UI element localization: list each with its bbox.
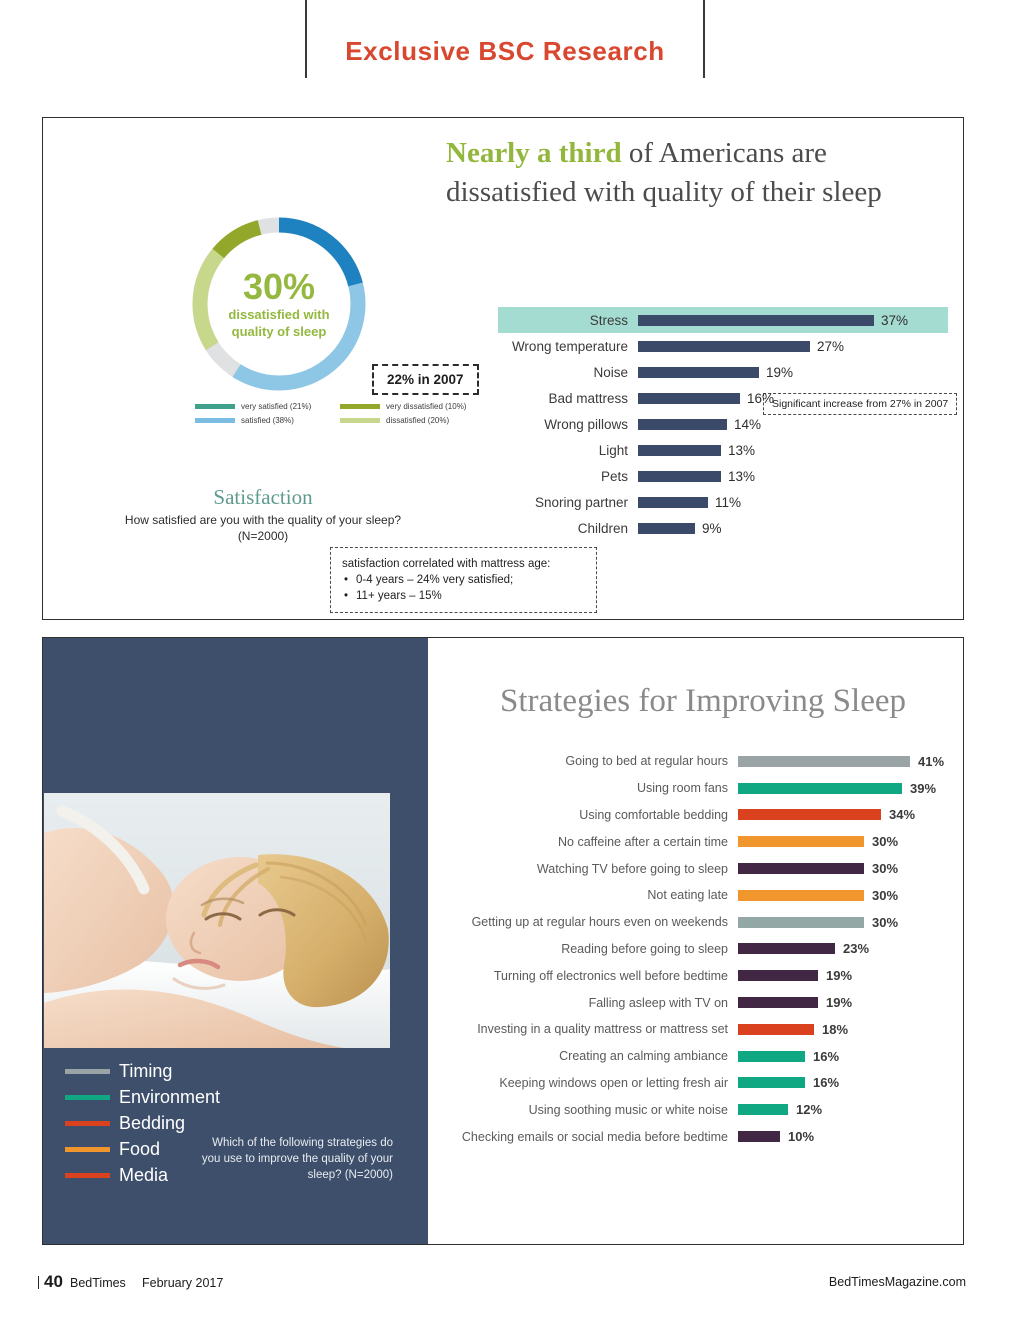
bar-row-soothing-music: Using soothing music or white noise 12% [428, 1096, 963, 1123]
bar-fill [638, 341, 810, 352]
bar-value: 12% [796, 1102, 822, 1117]
strategies-caption-line2: you use to improve the quality of your [193, 1151, 393, 1167]
bar-fill [638, 497, 708, 508]
bar-row-noise: Noise 19% [498, 359, 948, 385]
satisfaction-question: How satisfied are you with the quality o… [43, 512, 483, 544]
bar-fill [738, 1104, 788, 1115]
bar-fill [638, 315, 874, 326]
bar-row-stress: Stress 37% [498, 307, 948, 333]
legend-swatch-icon [65, 1069, 110, 1074]
bar-fill [638, 419, 727, 430]
bar-row-bad-mattress: Bad mattress 16% [498, 385, 948, 411]
bar-label: Wrong temperature [498, 339, 638, 354]
bar-value: 37% [881, 313, 908, 328]
legend-swatch-icon [65, 1095, 110, 1100]
sleeping-woman-photo [44, 793, 390, 1048]
bar-value: 19% [826, 995, 852, 1010]
panel1-headline: Nearly a third of Americans are dissatis… [446, 134, 916, 212]
legend-swatch-icon [340, 404, 380, 409]
bar-row-falling-asleep-tv: Falling asleep with TV on 19% [428, 989, 963, 1016]
callout-mattress-age: satisfaction correlated with mattress ag… [330, 547, 597, 613]
legend-item-environment: Environment [65, 1084, 220, 1110]
bar-row-snoring-partner: Snoring partner 11% [498, 489, 948, 515]
legend-item-satisfied: satisfied (38%) [195, 416, 340, 425]
bar-label: No caffeine after a certain time [428, 835, 738, 849]
bar-row-turning-off-electronics: Turning off electronics well before bedt… [428, 962, 963, 989]
legend-item-very-dissatisfied: very dissatisfied (10%) [340, 402, 485, 411]
mattress-callout-item: 11+ years – 15% [356, 588, 585, 604]
legend-swatch-icon [65, 1147, 110, 1152]
bar-value: 30% [872, 861, 898, 876]
legend-item-dissatisfied: dissatisfied (20%) [340, 416, 485, 425]
bar-row-room-fans: Using room fans 39% [428, 775, 963, 802]
legend-label: Media [119, 1165, 168, 1186]
satisfaction-question-line1: How satisfied are you with the quality o… [43, 512, 483, 528]
bar-value: 10% [788, 1129, 814, 1144]
bar-label: Watching TV before going to sleep [428, 862, 738, 876]
page-number: 40 [44, 1272, 63, 1292]
bar-label: Wrong pillows [498, 417, 638, 432]
bar-value: 19% [766, 365, 793, 380]
bar-row-checking-emails: Checking emails or social media before b… [428, 1123, 963, 1150]
bar-value: 34% [889, 807, 915, 822]
bar-fill [738, 1024, 814, 1035]
bar-row-no-caffeine: No caffeine after a certain time 30% [428, 828, 963, 855]
strategies-caption-line3: sleep? (N=2000) [193, 1167, 393, 1183]
bar-row-watching-tv: Watching TV before going to sleep 30% [428, 855, 963, 882]
bar-row-comfortable-bedding: Using comfortable bedding 34% [428, 802, 963, 829]
bar-label: Children [498, 521, 638, 536]
bar-value: 30% [872, 915, 898, 930]
bar-value: 18% [822, 1022, 848, 1037]
strategies-caption-line1: Which of the following strategies do [193, 1135, 393, 1151]
satisfaction-donut-chart: 30% dissatisfied with quality of sleep [184, 209, 374, 399]
sleep-disturb-bar-chart: Significant increase from 27% in 2007 St… [498, 273, 948, 541]
legend-label: satisfied (38%) [241, 416, 294, 425]
bar-label: Pets [498, 469, 638, 484]
bar-label: Creating an calming ambiance [428, 1049, 738, 1063]
bar-fill [738, 863, 864, 874]
bar-row-calming-ambiance: Creating an calming ambiance 16% [428, 1043, 963, 1070]
strategies-bar-chart: Going to bed at regular hours 41% Using … [428, 748, 963, 1150]
donut-sub-line2: quality of sleep [232, 323, 327, 340]
bar-row-windows-open: Keeping windows open or letting fresh ai… [428, 1070, 963, 1097]
bar-label: Reading before going to sleep [428, 942, 738, 956]
page-header: Exclusive BSC Research [0, 0, 1024, 92]
bar-row-pets: Pets 13% [498, 463, 948, 489]
satisfaction-question-line2: (N=2000) [43, 528, 483, 544]
footer-rule [38, 1276, 39, 1289]
magazine-name: BedTimes [70, 1276, 126, 1290]
bar-row-reading: Reading before going to sleep 23% [428, 936, 963, 963]
bar-row-getting-up-regular: Getting up at regular hours even on week… [428, 909, 963, 936]
bar-fill [738, 809, 881, 820]
legend-swatch-icon [195, 418, 235, 423]
bar-value: 19% [826, 968, 852, 983]
bar-row-wrong-temperature: Wrong temperature 27% [498, 333, 948, 359]
website-url: BedTimesMagazine.com [829, 1275, 966, 1289]
header-divider-left [305, 0, 307, 78]
page-title: Exclusive BSC Research [320, 36, 690, 67]
bar-label: Stress [498, 313, 638, 328]
bar-row-children: Children 9% [498, 515, 948, 541]
mattress-callout-item: 0-4 years – 24% very satisfied; [356, 572, 585, 588]
bar-value: 30% [872, 888, 898, 903]
headline-highlight: Nearly a third [446, 137, 622, 169]
bar-row-quality-mattress: Investing in a quality mattress or mattr… [428, 1016, 963, 1043]
bar-label: Checking emails or social media before b… [428, 1130, 738, 1144]
sleep-strategies-panel: Timing Environment Bedding Food Media Wh… [42, 637, 964, 1245]
donut-center-label: 30% dissatisfied with quality of sleep [184, 209, 374, 399]
bar-value: 9% [702, 521, 722, 536]
bar-fill [738, 756, 910, 767]
donut-legend: very satisfied (21%) very dissatisfied (… [195, 402, 485, 430]
bar-label: Using comfortable bedding [428, 808, 738, 822]
bar-label: Noise [498, 365, 638, 380]
bar-label: Going to bed at regular hours [428, 754, 738, 768]
bar-value: 39% [910, 781, 936, 796]
legend-swatch-icon [65, 1121, 110, 1126]
legend-label: dissatisfied (20%) [386, 416, 449, 425]
bar-fill [638, 523, 695, 534]
bar-row-not-eating-late: Not eating late 30% [428, 882, 963, 909]
bar-row-light: Light 13% [498, 437, 948, 463]
legend-item-timing: Timing [65, 1058, 220, 1084]
donut-sub-line1: dissatisfied with [228, 306, 329, 323]
bar-fill [738, 970, 818, 981]
bar-fill [738, 997, 818, 1008]
bar-label: Using room fans [428, 781, 738, 795]
bar-label: Bad mattress [498, 391, 638, 406]
bar-label: Getting up at regular hours even on week… [428, 915, 738, 929]
bar-value: 16% [813, 1049, 839, 1064]
bar-value: 13% [728, 443, 755, 458]
legend-label: very dissatisfied (10%) [386, 402, 466, 411]
bar-value: 16% [747, 391, 774, 406]
sleep-satisfaction-panel: Nearly a third of Americans are dissatis… [42, 117, 964, 620]
bar-fill [738, 1131, 780, 1142]
bar-fill [738, 943, 835, 954]
strategies-caption: Which of the following strategies do you… [193, 1135, 393, 1183]
bar-fill [738, 890, 864, 901]
bar-fill [638, 393, 740, 404]
bar-value: 41% [918, 754, 944, 769]
legend-label: Environment [119, 1087, 220, 1108]
legend-swatch-icon [65, 1173, 110, 1178]
legend-label: Bedding [119, 1113, 185, 1134]
bar-fill [638, 445, 721, 456]
photo-svg [44, 793, 390, 1048]
legend-label: very satisfied (21%) [241, 402, 311, 411]
bar-value: 27% [817, 339, 844, 354]
legend-item-very-satisfied: very satisfied (21%) [195, 402, 340, 411]
bar-label: Turning off electronics well before bedt… [428, 969, 738, 983]
bar-value: 11% [715, 495, 741, 510]
legend-label: Food [119, 1139, 160, 1160]
page-footer: 40 BedTimes February 2017 BedTimesMagazi… [0, 1270, 1024, 1310]
bar-label: Not eating late [428, 888, 738, 902]
strategies-title: Strategies for Improving Sleep [453, 683, 953, 720]
bar-row-wrong-pillows: Wrong pillows 14% [498, 411, 948, 437]
legend-swatch-icon [340, 418, 380, 423]
bar-value: 30% [872, 834, 898, 849]
header-divider-right [703, 0, 705, 78]
callout-22-percent-2007: 22% in 2007 [372, 364, 479, 395]
bar-label: Investing in a quality mattress or mattr… [428, 1022, 738, 1036]
bar-fill [738, 783, 902, 794]
bar-fill [738, 836, 864, 847]
bar-fill [738, 917, 864, 928]
bar-fill [638, 471, 721, 482]
bar-value: 13% [728, 469, 755, 484]
issue-date: February 2017 [142, 1276, 223, 1290]
bar-fill [738, 1077, 805, 1088]
bar-label: Light [498, 443, 638, 458]
bar-value: 23% [843, 941, 869, 956]
bar-label: Snoring partner [498, 495, 638, 510]
mattress-callout-heading: satisfaction correlated with mattress ag… [342, 556, 585, 572]
bar-fill [738, 1051, 805, 1062]
bar-value: 14% [734, 417, 761, 432]
bar-fill [638, 367, 759, 378]
bar-label: Using soothing music or white noise [428, 1103, 738, 1117]
satisfaction-heading: Satisfaction [43, 485, 483, 510]
legend-swatch-icon [195, 404, 235, 409]
bar-row-going-to-bed-regular: Going to bed at regular hours 41% [428, 748, 963, 775]
legend-item-bedding: Bedding [65, 1110, 220, 1136]
bar-value: 16% [813, 1075, 839, 1090]
donut-value: 30% [243, 268, 315, 306]
bar-label: Keeping windows open or letting fresh ai… [428, 1076, 738, 1090]
bar-label: Falling asleep with TV on [428, 996, 738, 1010]
legend-label: Timing [119, 1061, 172, 1082]
